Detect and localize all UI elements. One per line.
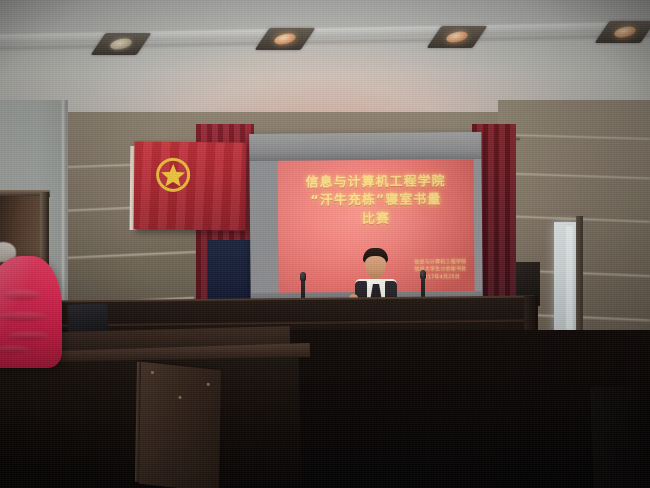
- downlight-bulb-icon: [443, 32, 470, 43]
- downlight-bulb-icon: [107, 39, 134, 50]
- slide-title-line-1: 信息与计算机工程学院: [278, 173, 474, 193]
- downlight-bulb-icon: [611, 27, 638, 38]
- fabric-fold: [0, 312, 48, 321]
- flag-emblem-circle: [156, 158, 190, 192]
- door-frame: [576, 216, 583, 336]
- microphone-head-icon: [420, 270, 426, 279]
- pink-jacket-hood: [0, 256, 62, 368]
- fabric-fold: [6, 332, 50, 340]
- slide-title-block: 信息与计算机工程学院 “汗牛充栋”寝室书量 比赛: [278, 173, 474, 230]
- bench-screw-icon: [207, 383, 210, 386]
- bench-side-panel: [139, 362, 221, 488]
- slide-title-line-3: 比赛: [278, 210, 474, 230]
- doorway-light-glow: [566, 226, 573, 330]
- foreground-right-post: [590, 385, 650, 488]
- audience-member-pink-jacket: [0, 256, 68, 386]
- bench-screw-icon: [151, 371, 154, 374]
- fabric-fold: [2, 290, 42, 300]
- downlight-bulb-icon: [271, 34, 298, 45]
- microphone-head-icon: [300, 272, 306, 281]
- fabric-fold: [0, 346, 30, 353]
- slide-title-line-2: “汗牛充栋”寝室书量: [278, 192, 474, 212]
- screen-roller-housing: [249, 132, 481, 161]
- lecture-hall-photo: 信息与计算机工程学院 “汗牛充栋”寝室书量 比赛 信息与计算机工程学院 信息大学…: [0, 0, 650, 488]
- bench-screw-icon: [178, 396, 181, 399]
- communist-youth-league-flag: [134, 141, 247, 230]
